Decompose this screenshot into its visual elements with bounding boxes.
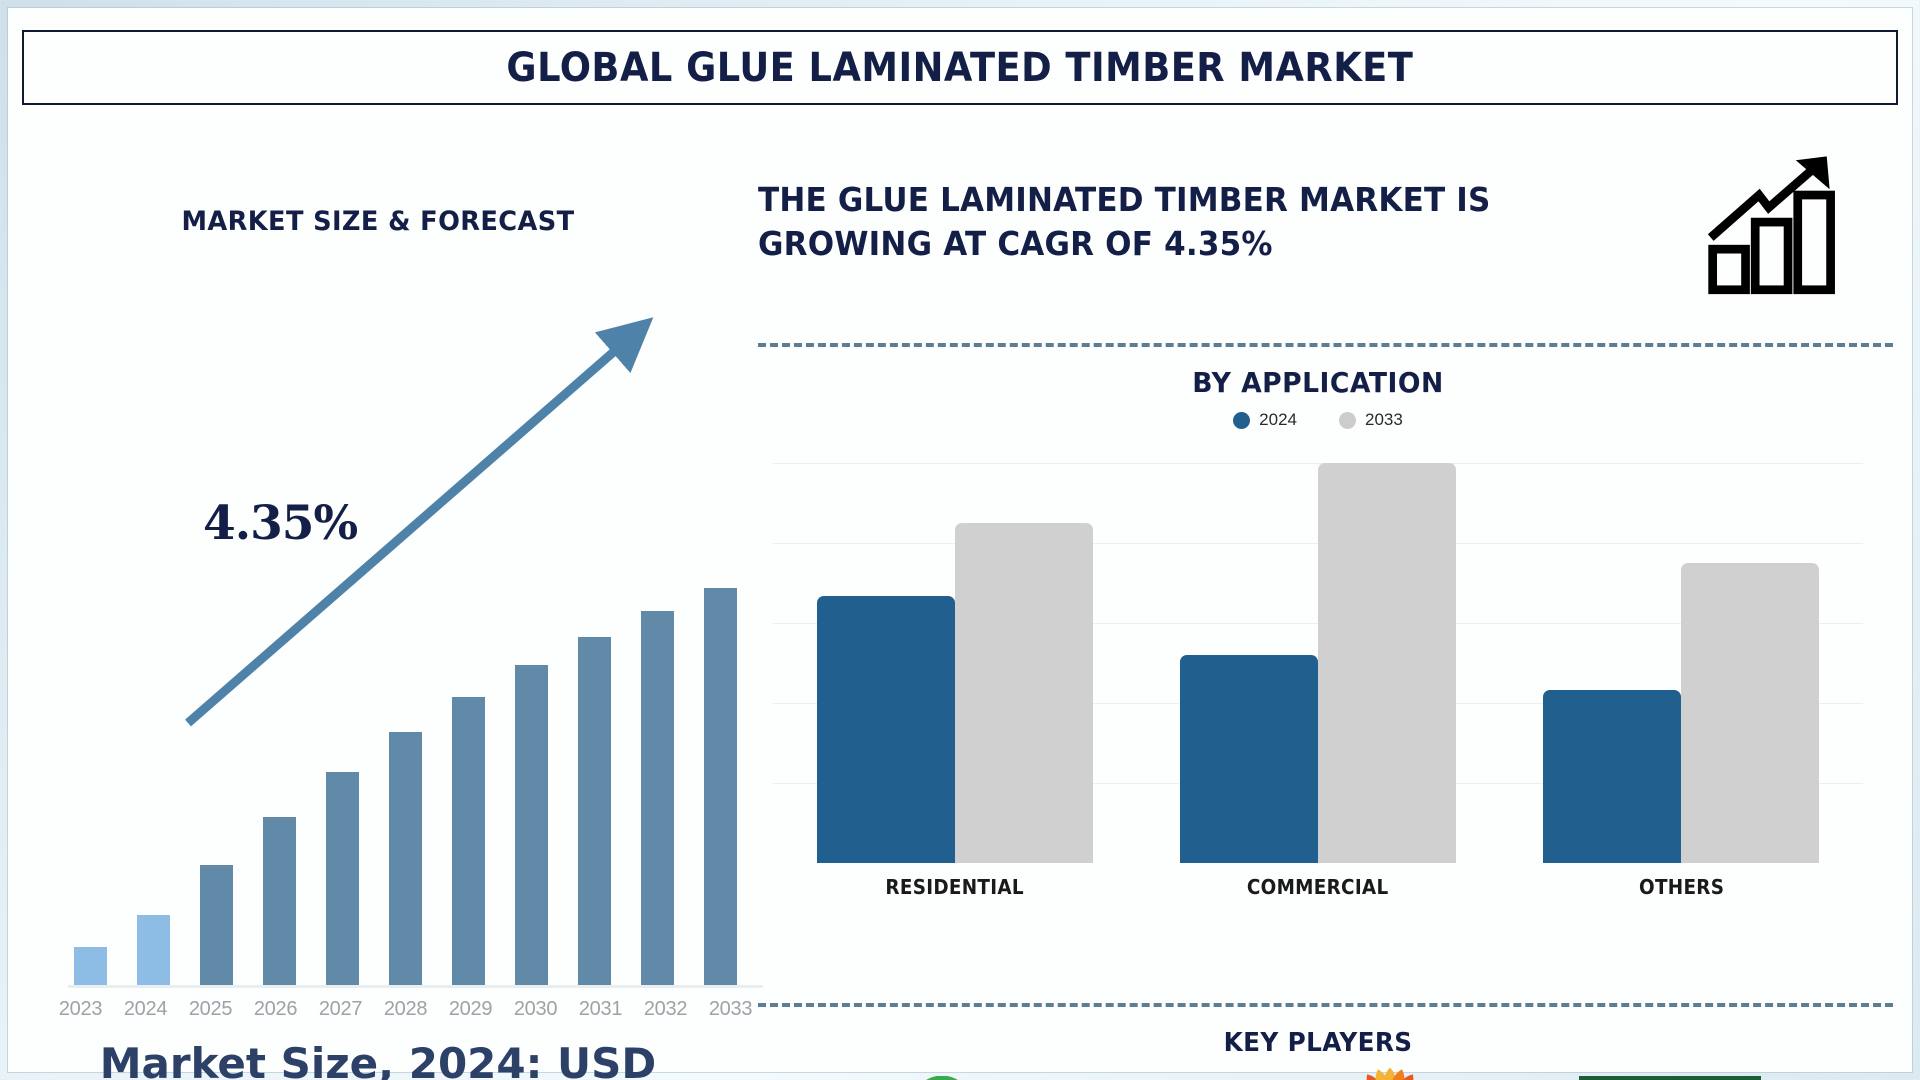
bar-plot-area xyxy=(773,463,1863,863)
market-size-bar-2028 xyxy=(389,732,422,985)
market-size-bar-2027 xyxy=(326,772,359,985)
logo-boise-cascade: Boise Cascade® xyxy=(905,1076,1201,1080)
category-label-commercial: COMMERCIAL xyxy=(1151,875,1485,899)
infographic-frame: GLOBAL GLUE LAMINATED TIMBER MARKET MARK… xyxy=(8,8,1912,1072)
bar-commercial-2033 xyxy=(1318,463,1456,863)
western-forest-products-logo-icon: WESTERN Forest Products xyxy=(1579,1076,1761,1080)
bar-residential-2024 xyxy=(817,596,955,863)
bar-others-2033 xyxy=(1681,563,1819,863)
category-label-residential: RESIDENTIAL xyxy=(788,875,1122,899)
year-label-2029: 2029 xyxy=(438,998,503,1021)
market-size-bar-2031 xyxy=(578,637,611,985)
market-size-bar-2032 xyxy=(641,611,674,985)
divider-top xyxy=(758,343,1893,347)
key-players-title: KEY PLAYERS xyxy=(781,1028,1855,1058)
year-label-2028: 2028 xyxy=(373,998,438,1021)
bar-residential-2033 xyxy=(955,523,1093,863)
market-size-bar-2023 xyxy=(74,947,107,985)
legend-item-2024: 2024 xyxy=(1233,410,1297,430)
pine-tree-circle-logo-icon xyxy=(905,1076,979,1080)
key-players-logos: Boise Cascade® StoraEnso WESTERN Forest … xyxy=(843,1068,1823,1080)
legend-label: 2033 xyxy=(1365,410,1403,430)
market-size-panel: MARKET SIZE & FORECAST 4.35% 20232024202… xyxy=(28,138,768,1048)
year-label-2023: 2023 xyxy=(48,998,113,1021)
market-size-bar-2029 xyxy=(452,697,485,985)
market-size-bar-chart xyxy=(48,388,763,988)
bar-group-others xyxy=(1500,463,1863,863)
year-label-2031: 2031 xyxy=(568,998,633,1021)
page-title: GLOBAL GLUE LAMINATED TIMBER MARKET xyxy=(507,45,1414,91)
chart-baseline xyxy=(68,985,763,988)
bar-others-2024 xyxy=(1543,690,1681,863)
market-size-bar-2024 xyxy=(137,915,170,985)
legend-item-2033: 2033 xyxy=(1339,410,1403,430)
bar-group-residential xyxy=(773,463,1136,863)
legend-label: 2024 xyxy=(1259,410,1297,430)
sunburst-flower-logo-icon xyxy=(1344,1064,1436,1080)
market-size-bar-2033 xyxy=(704,588,737,985)
year-label-2026: 2026 xyxy=(243,998,308,1021)
market-size-bar-2026 xyxy=(263,817,296,985)
by-application-title: BY APPLICATION xyxy=(781,366,1855,399)
market-size-value: Market Size, 2024: USD 7,081.50 Million xyxy=(28,1038,728,1080)
category-label-others: OTHERS xyxy=(1514,875,1848,899)
divider-bottom xyxy=(758,1003,1893,1007)
market-size-bar-2030 xyxy=(515,665,548,985)
year-label-2024: 2024 xyxy=(113,998,178,1021)
year-label-2032: 2032 xyxy=(633,998,698,1021)
year-label-2027: 2027 xyxy=(308,998,373,1021)
market-size-heading: MARKET SIZE & FORECAST xyxy=(46,206,711,237)
growth-bar-chart-arrow-icon xyxy=(1703,150,1848,300)
legend-dot-icon xyxy=(1233,412,1250,429)
year-axis-labels: 2023202420252026202720282029203020312032… xyxy=(48,998,763,1021)
year-label-2030: 2030 xyxy=(503,998,568,1021)
cagr-headline-line2: GROWING AT CAGR OF 4.35% xyxy=(758,222,1623,266)
bar-commercial-2024 xyxy=(1180,655,1318,863)
market-size-bar-2025 xyxy=(200,865,233,985)
chart-legend: 20242033 xyxy=(753,410,1883,430)
title-box: GLOBAL GLUE LAMINATED TIMBER MARKET xyxy=(22,30,1898,105)
by-application-bar-chart: RESIDENTIALCOMMERCIALOTHERS xyxy=(773,463,1863,918)
category-axis-labels: RESIDENTIALCOMMERCIALOTHERS xyxy=(773,875,1863,899)
logo-stora-enso: StoraEnso xyxy=(1326,1064,1454,1080)
market-size-value-line1: Market Size, 2024: USD xyxy=(28,1038,728,1080)
bar-group-commercial xyxy=(1136,463,1499,863)
cagr-headline-line1: THE GLUE LAMINATED TIMBER MARKET IS xyxy=(758,178,1623,222)
legend-dot-icon xyxy=(1339,412,1356,429)
cagr-headline: THE GLUE LAMINATED TIMBER MARKET IS GROW… xyxy=(758,178,1623,265)
application-panel: THE GLUE LAMINATED TIMBER MARKET IS GROW… xyxy=(753,138,1903,1063)
year-label-2025: 2025 xyxy=(178,998,243,1021)
logo-western-forest-products: WESTERN Forest Products xyxy=(1579,1068,1761,1080)
